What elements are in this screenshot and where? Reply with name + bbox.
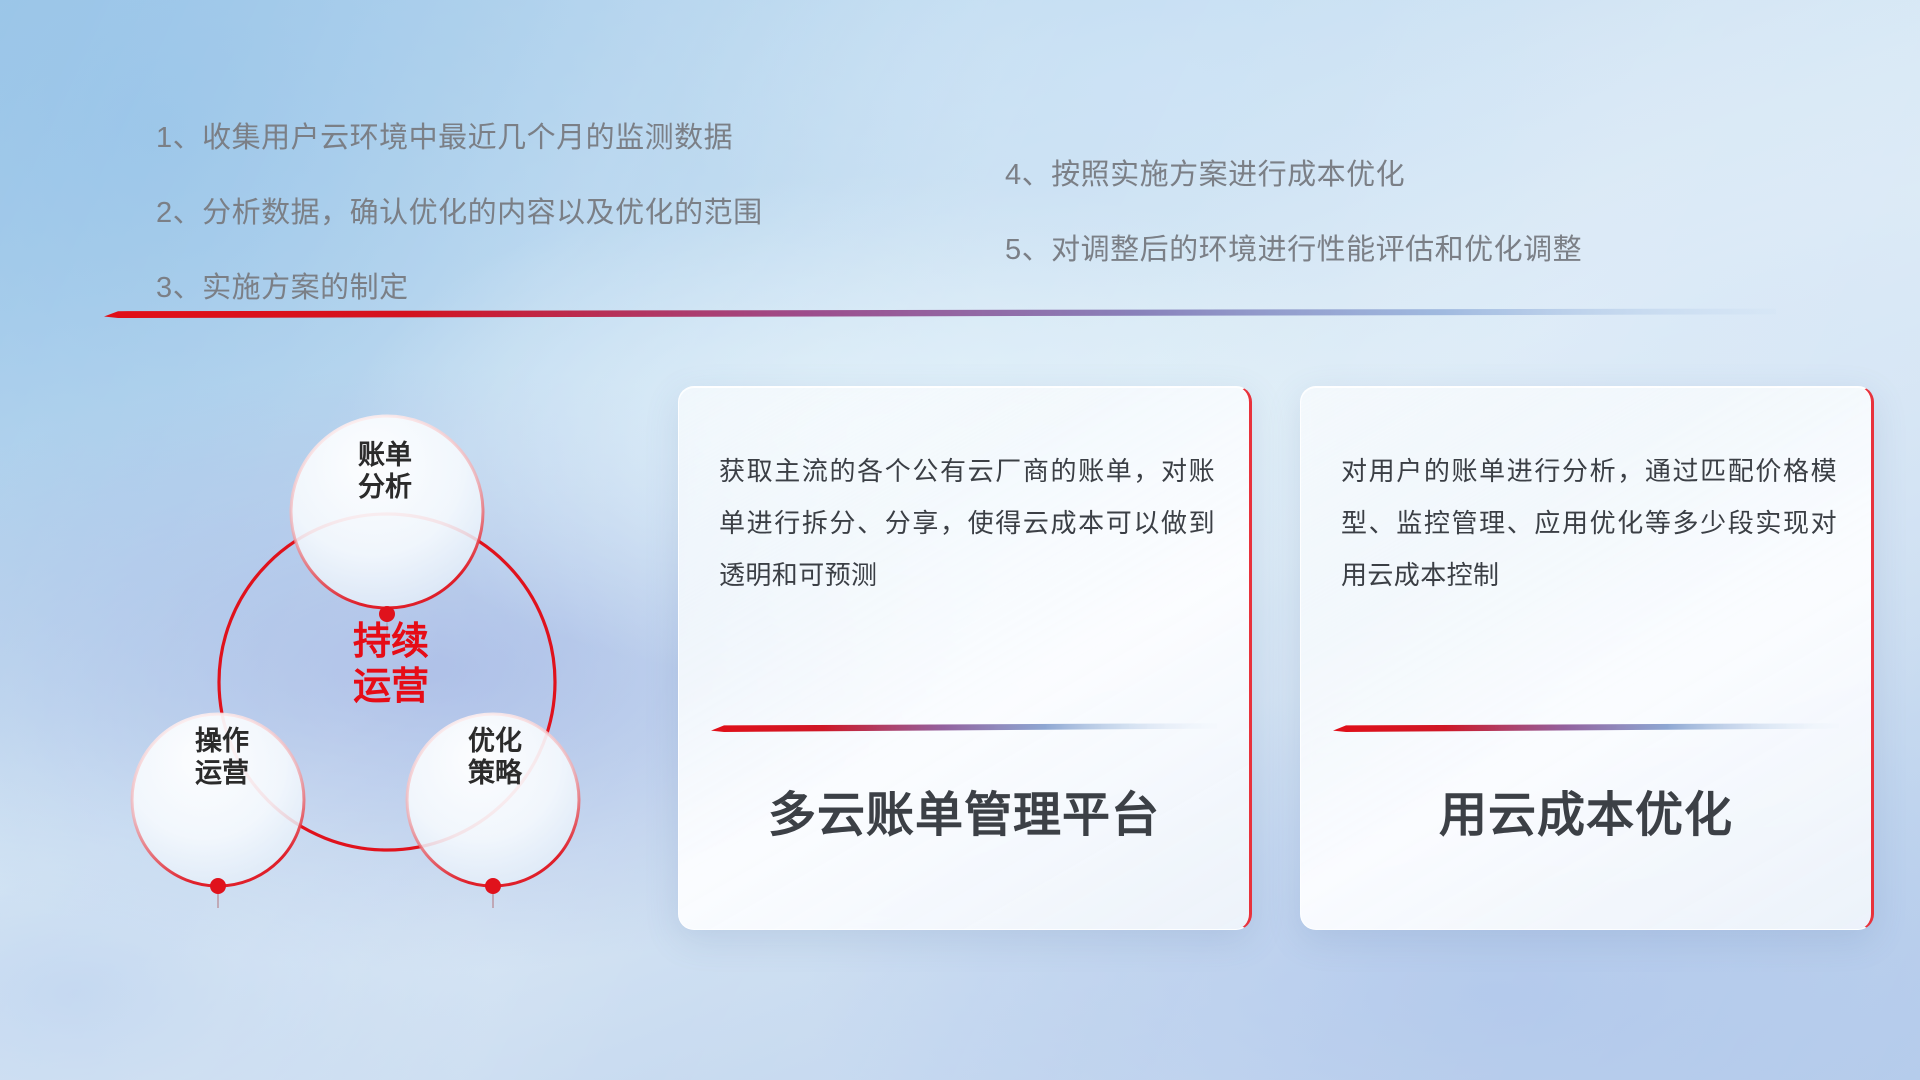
card-divider [711, 721, 1217, 732]
step-item-1: 1、收集用户云环境中最近几个月的监测数据 [156, 124, 763, 153]
steps-list-right: 4、按照实施方案进行成本优化 5、对调整后的环境进行性能评估和优化调整 [1005, 161, 1582, 311]
venn-label-continuous-operations: 持续 运营 [306, 620, 476, 710]
card-title: 多云账单管理平台 [679, 775, 1249, 845]
card-body-text: 获取主流的各个公有云厂商的账单，对账单进行拆分、分享，使得云成本可以做到透明和可… [719, 445, 1215, 601]
card-cloud-cost-optimization[interactable]: 对用户的账单进行分析，通过匹配价格模型、监控管理、应用优化等多少段实现对用云成本… [1300, 386, 1874, 930]
step-item-5: 5、对调整后的环境进行性能评估和优化调整 [1005, 236, 1582, 265]
venn-node-dot-right [485, 878, 501, 894]
slide-canvas: 1、收集用户云环境中最近几个月的监测数据 2、分析数据，确认优化的内容以及优化的… [0, 0, 1920, 1080]
step-item-4: 4、按照实施方案进行成本优化 [1005, 161, 1582, 190]
venn-node-dot-left [210, 878, 226, 894]
card-multi-cloud-bill-platform[interactable]: 获取主流的各个公有云厂商的账单，对账单进行拆分、分享，使得云成本可以做到透明和可… [678, 386, 1252, 930]
venn-label-operations: 操作 运营 [142, 726, 302, 790]
header-divider [104, 306, 1776, 318]
step-item-3: 3、实施方案的制定 [156, 274, 763, 303]
continuous-operations-diagram: 账单 分析 持续 运营 操作 运营 优化 策略 [90, 340, 650, 960]
card-body-text: 对用户的账单进行分析，通过匹配价格模型、监控管理、应用优化等多少段实现对用云成本… [1341, 445, 1837, 601]
venn-label-optimization-strategy: 优化 策略 [415, 726, 575, 790]
step-item-2: 2、分析数据，确认优化的内容以及优化的范围 [156, 199, 763, 228]
venn-label-bill-analysis: 账单 分析 [305, 440, 465, 504]
card-title: 用云成本优化 [1301, 775, 1871, 845]
card-divider [1333, 721, 1839, 732]
